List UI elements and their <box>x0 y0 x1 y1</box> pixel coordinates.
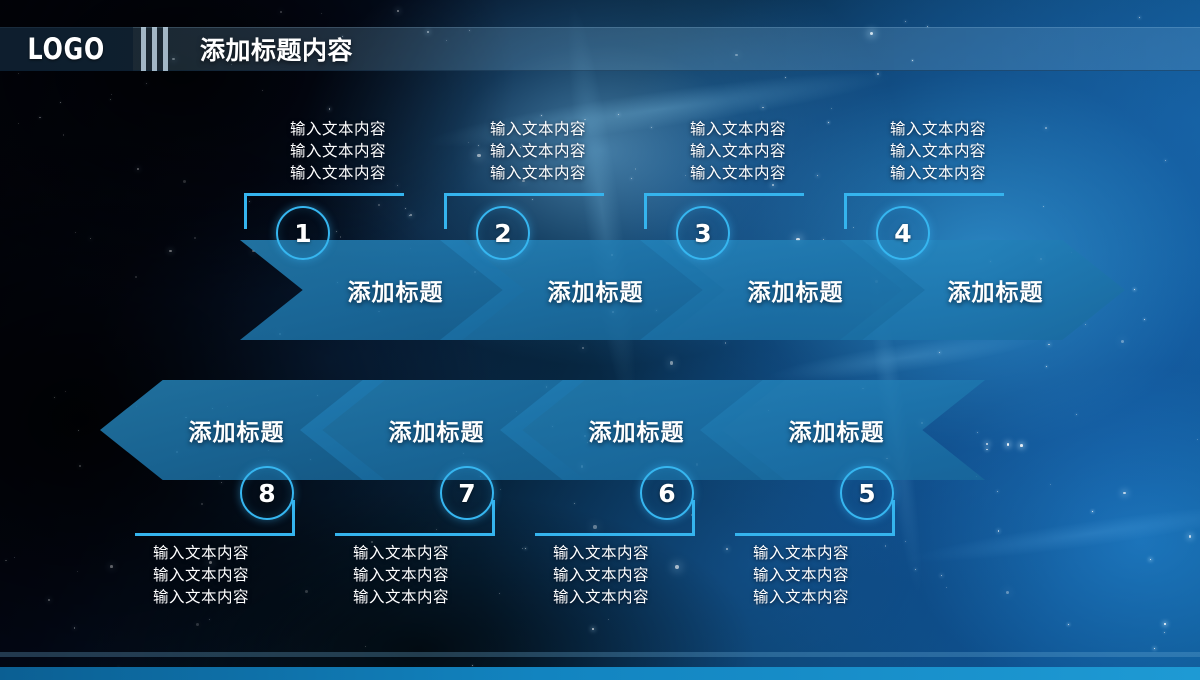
connector-horizontal <box>444 193 604 196</box>
step-text-line: 输入文本内容 <box>848 162 1028 184</box>
step-text-line: 输入文本内容 <box>511 586 691 608</box>
star <box>1007 443 1009 445</box>
star <box>1134 289 1135 290</box>
star <box>1164 623 1166 625</box>
star <box>169 250 171 252</box>
star <box>1045 127 1047 129</box>
step-text-line: 输入文本内容 <box>711 564 891 586</box>
star <box>280 11 282 13</box>
star <box>1076 414 1077 415</box>
step-text-line: 输入文本内容 <box>311 586 491 608</box>
step-text-3: 输入文本内容输入文本内容输入文本内容 <box>648 118 828 184</box>
star <box>79 465 81 467</box>
step-text-6: 输入文本内容输入文本内容输入文本内容 <box>511 542 691 608</box>
step-text-line: 输入文本内容 <box>448 118 628 140</box>
star <box>1165 160 1166 161</box>
star <box>77 571 78 572</box>
star <box>336 231 337 232</box>
star <box>111 94 112 95</box>
step-text-1: 输入文本内容输入文本内容输入文本内容 <box>248 118 428 184</box>
step-text-line: 输入文本内容 <box>248 140 428 162</box>
star <box>1068 624 1069 625</box>
star <box>1006 591 1009 594</box>
star <box>472 665 473 666</box>
step-text-2: 输入文本内容输入文本内容输入文本内容 <box>448 118 628 184</box>
header-divider-bars <box>141 27 168 71</box>
star <box>946 587 947 588</box>
star <box>905 21 906 22</box>
step-number-5[interactable]: 5 <box>840 466 894 520</box>
star <box>499 593 500 594</box>
star <box>183 180 186 183</box>
connector-horizontal <box>535 533 695 536</box>
star <box>1092 511 1093 512</box>
step-text-line: 输入文本内容 <box>648 162 828 184</box>
step-number-3[interactable]: 3 <box>676 206 730 260</box>
step-text-4: 输入文本内容输入文本内容输入文本内容 <box>848 118 1028 184</box>
footer-thin-line <box>0 652 1200 657</box>
title-band: 添加标题内容 <box>172 27 1200 71</box>
star <box>305 590 308 593</box>
star <box>1144 319 1145 320</box>
step-text-line: 输入文本内容 <box>848 118 1028 140</box>
star <box>618 114 619 115</box>
star <box>1123 492 1126 495</box>
star <box>74 627 76 629</box>
star <box>941 575 942 576</box>
slide-canvas: LOGO 添加标题内容 添加标题1输入文本内容输入文本内容输入文本内容添加标题2… <box>0 0 1200 680</box>
logo-box[interactable]: LOGO <box>0 27 133 71</box>
star <box>986 443 988 445</box>
star <box>608 619 609 620</box>
star <box>631 178 632 179</box>
step-text-line: 输入文本内容 <box>511 564 691 586</box>
star <box>1121 340 1124 343</box>
star <box>582 347 584 349</box>
step-text-line: 输入文本内容 <box>248 162 428 184</box>
star <box>196 623 199 626</box>
star <box>110 99 111 100</box>
connector-horizontal <box>735 533 895 536</box>
logo-text: LOGO <box>28 32 106 66</box>
step-text-line: 输入文本内容 <box>448 140 628 162</box>
star <box>14 557 15 558</box>
connector-vertical <box>292 500 295 536</box>
star <box>78 430 79 431</box>
star <box>1020 444 1023 447</box>
step-text-line: 输入文本内容 <box>648 140 828 162</box>
step-number-4[interactable]: 4 <box>876 206 930 260</box>
star <box>877 73 879 75</box>
star <box>365 646 366 647</box>
star <box>65 391 66 392</box>
star <box>1189 535 1191 537</box>
step-text-7: 输入文本内容输入文本内容输入文本内容 <box>311 542 491 608</box>
star <box>905 541 906 542</box>
step-text-line: 输入文本内容 <box>448 162 628 184</box>
step-text-line: 输入文本内容 <box>248 118 428 140</box>
step-text-line: 输入文本内容 <box>511 542 691 564</box>
step-text-8: 输入文本内容输入文本内容输入文本内容 <box>111 542 291 608</box>
star <box>500 489 501 490</box>
star <box>1048 344 1049 345</box>
star <box>405 208 406 209</box>
star <box>1164 632 1165 633</box>
star <box>997 491 998 492</box>
connector-vertical <box>492 500 495 536</box>
header-divider-bar <box>163 27 168 71</box>
step-text-line: 输入文本内容 <box>711 542 891 564</box>
step-text-5: 输入文本内容输入文本内容输入文本内容 <box>711 542 891 608</box>
star <box>146 83 148 85</box>
star <box>39 117 40 118</box>
star <box>18 123 19 124</box>
star <box>5 560 6 561</box>
star <box>541 115 542 116</box>
star <box>397 10 399 12</box>
star <box>137 168 139 170</box>
star <box>63 134 65 136</box>
connector-vertical <box>892 500 895 536</box>
connector-vertical <box>444 193 447 229</box>
step-number-6[interactable]: 6 <box>640 466 694 520</box>
header-divider-bar <box>141 27 146 71</box>
star <box>18 73 19 74</box>
step-text-line: 输入文本内容 <box>648 118 828 140</box>
star <box>635 168 637 170</box>
star <box>998 530 999 531</box>
connector-horizontal <box>135 533 295 536</box>
star <box>1043 206 1044 207</box>
star <box>823 239 824 240</box>
footer-accent-bar <box>0 667 1200 680</box>
star <box>725 342 727 344</box>
star <box>1085 324 1086 325</box>
connector-vertical <box>644 193 647 229</box>
star <box>262 90 263 91</box>
star <box>977 432 978 433</box>
star <box>592 628 594 630</box>
star <box>785 77 786 78</box>
star <box>410 214 412 216</box>
star <box>762 107 764 109</box>
star <box>221 482 222 483</box>
star <box>321 13 322 14</box>
star <box>1046 366 1047 367</box>
step-text-line: 输入文本内容 <box>711 586 891 608</box>
step-number-7[interactable]: 7 <box>440 466 494 520</box>
connector-horizontal <box>335 533 495 536</box>
star <box>209 619 210 620</box>
step-text-line: 输入文本内容 <box>311 564 491 586</box>
star <box>915 569 916 570</box>
connector-horizontal <box>844 193 1004 196</box>
star <box>831 108 832 109</box>
star <box>1154 648 1155 649</box>
star <box>1197 439 1198 440</box>
header-divider-bar <box>152 27 157 71</box>
star <box>1050 484 1051 485</box>
connector-horizontal <box>244 193 404 196</box>
star <box>1139 17 1140 18</box>
step-text-line: 输入文本内容 <box>311 542 491 564</box>
step-text-line: 输入文本内容 <box>111 586 291 608</box>
star <box>986 449 987 450</box>
star <box>75 232 76 233</box>
star <box>135 276 138 279</box>
star <box>48 599 50 601</box>
connector-horizontal <box>644 193 804 196</box>
star <box>939 352 940 353</box>
connector-vertical <box>692 500 695 536</box>
star <box>397 185 398 186</box>
step-number-8[interactable]: 8 <box>240 466 294 520</box>
star <box>54 397 55 398</box>
step-number-1[interactable]: 1 <box>276 206 330 260</box>
star <box>90 238 92 240</box>
step-number-2[interactable]: 2 <box>476 206 530 260</box>
star <box>194 237 196 239</box>
star <box>60 102 61 103</box>
connector-vertical <box>244 193 247 229</box>
step-text-line: 输入文本内容 <box>111 564 291 586</box>
star <box>329 108 330 109</box>
star <box>340 236 342 238</box>
step-text-line: 输入文本内容 <box>111 542 291 564</box>
star <box>1150 559 1152 561</box>
step-text-line: 输入文本内容 <box>848 140 1028 162</box>
connector-vertical <box>844 193 847 229</box>
page-title: 添加标题内容 <box>200 31 353 67</box>
star <box>670 361 673 364</box>
